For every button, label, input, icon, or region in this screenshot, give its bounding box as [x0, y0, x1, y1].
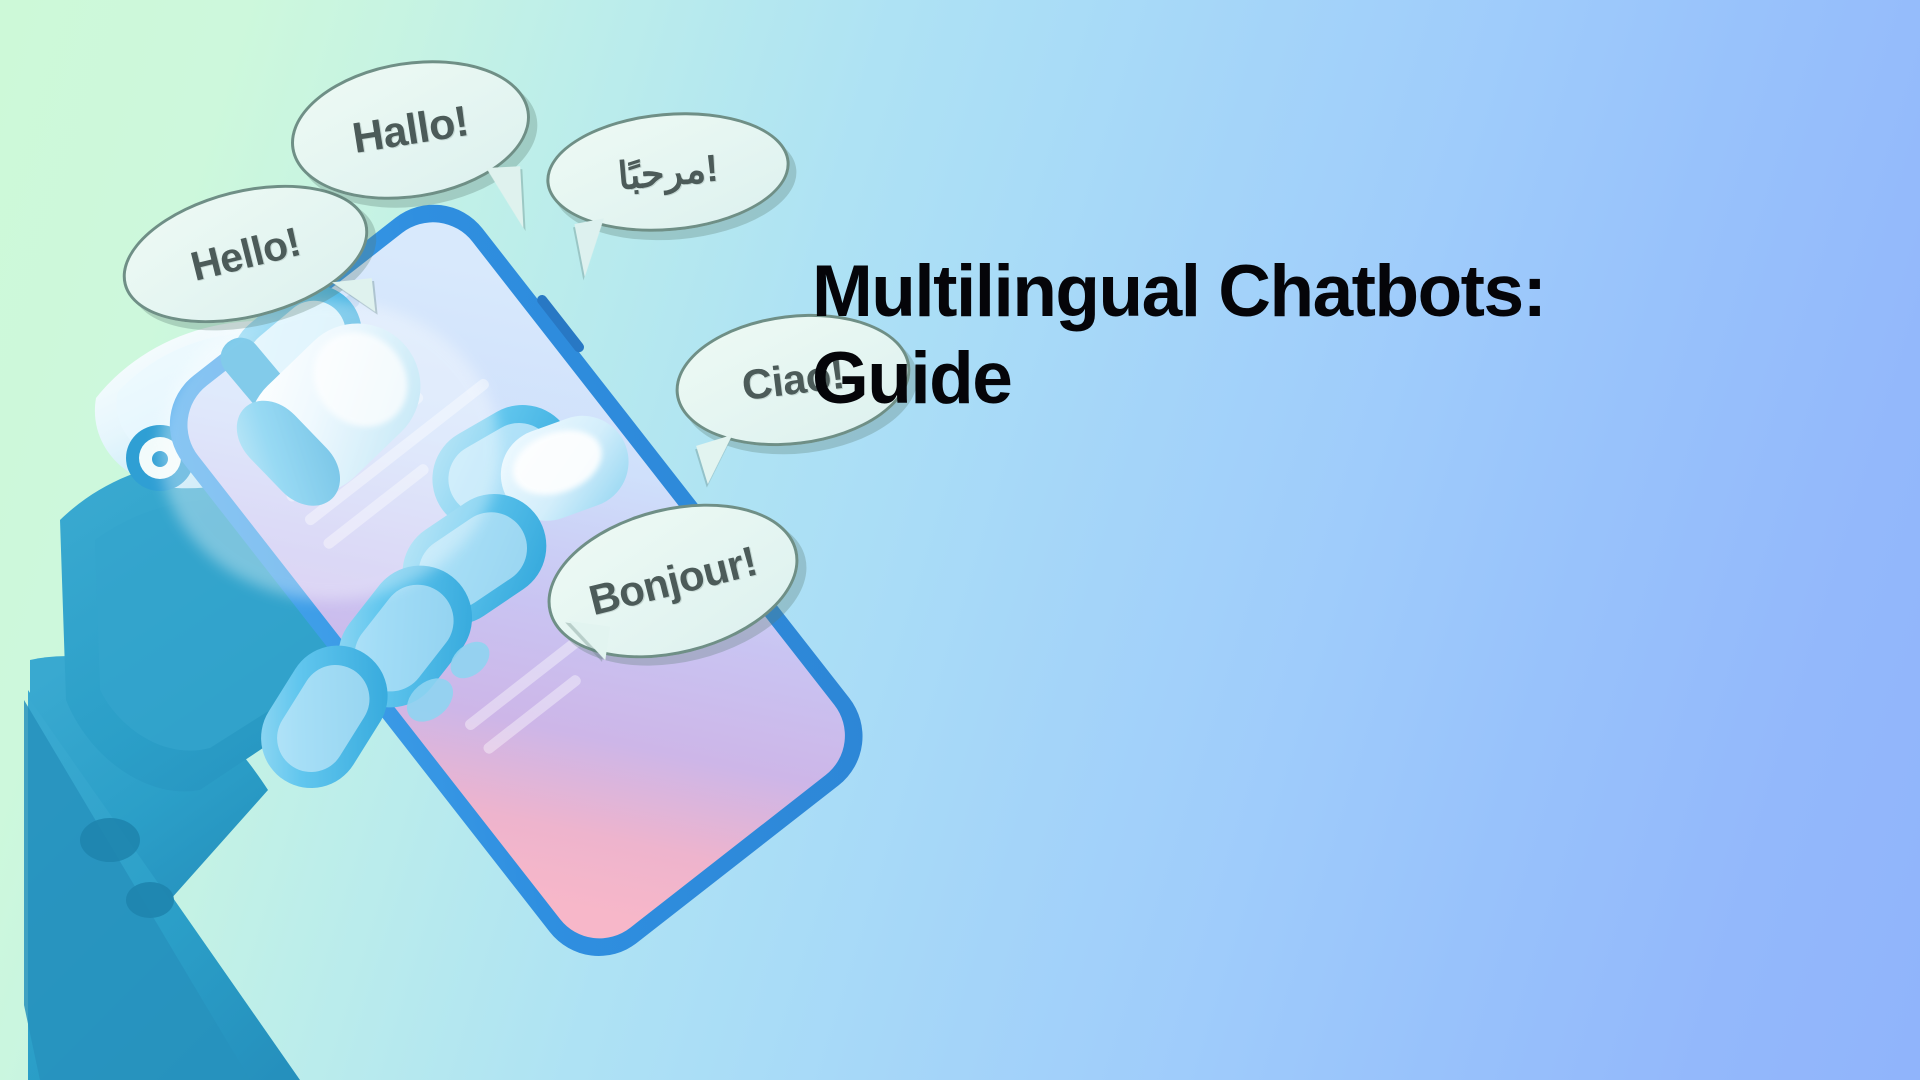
bubble-tail-icon	[332, 278, 375, 316]
speech-bubble-text: Bonjour!	[584, 537, 761, 625]
speech-bubble-text: !مرحبًا	[616, 145, 720, 199]
speech-bubble-text: Hello!	[186, 218, 305, 290]
page-title: Multilingual Chatbots: Guide	[812, 247, 1872, 423]
page-title-line-2: Guide	[812, 334, 1872, 423]
illustration-glow	[160, 300, 500, 600]
speech-bubble-text: Hallo!	[349, 97, 472, 164]
bubble-tail-icon	[564, 621, 610, 661]
bubble-tail-icon	[486, 166, 523, 230]
page-title-line-1: Multilingual Chatbots:	[812, 247, 1872, 336]
hero-banner: Hello! Hallo! !مرحبًا Ciao! Bonjour! Mul…	[0, 0, 1920, 1080]
